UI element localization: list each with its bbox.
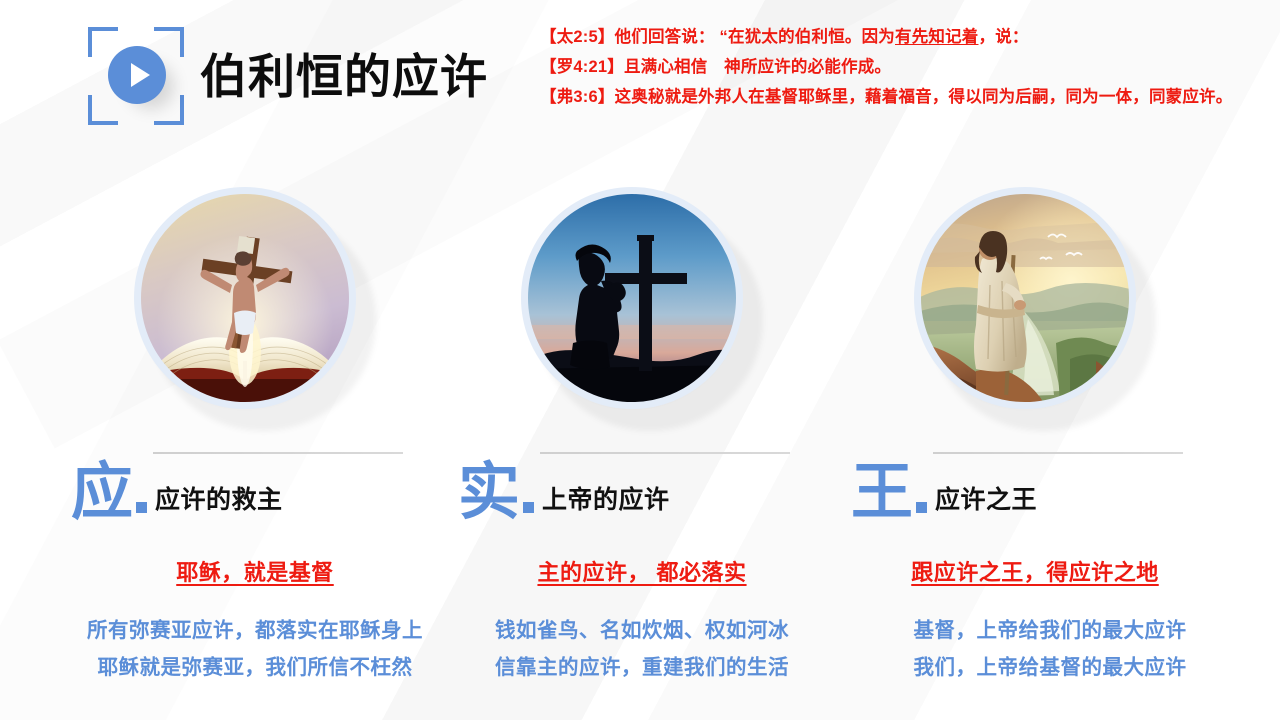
verse-text: 他们回答说： “在犹太的伯利恒。因为 (615, 28, 895, 46)
big-char: 应 (71, 464, 133, 521)
header: 伯利恒的应许 【太2:5】他们回答说： “在犹太的伯利恒。因为有先知记着，说： … (0, 0, 1280, 170)
verse-ref: 【弗3:6】 (540, 88, 615, 106)
column-red-line: 主的应许， 都必落实 (442, 555, 842, 587)
verse-ref: 【太2:5】 (540, 28, 615, 46)
blue-body-line: 钱如雀鸟、名如炊烟、权如河冰 (432, 612, 852, 649)
verse-list: 【太2:5】他们回答说： “在犹太的伯利恒。因为有先知记着，说： 【罗4:21】… (540, 22, 1240, 112)
circle-image-1 (140, 193, 350, 403)
content-columns: 应 应许的救主 耶稣，就是基督 所有弥赛亚应许，都落实在耶稣身上 耶稣就是弥赛亚… (0, 175, 1280, 720)
photo-ring (521, 187, 743, 409)
column-divider (540, 452, 790, 454)
verse-text-tail: ，说： (979, 28, 1029, 46)
column-sub-label: 应许的救主 (155, 480, 283, 521)
verse-text: 且满心相信 神所应许的必能作成。 (624, 58, 891, 76)
verse-underlined: 有先知记着 (895, 28, 979, 46)
column-headline-1: 应 应许的救主 (71, 455, 461, 521)
circle-image-2 (527, 193, 737, 403)
verse-text: 这奥秘就是外邦人在基督耶稣里，藉着福音，得以同为后嗣，同为一体，同蒙应许。 (615, 88, 1233, 106)
column-red-line: 耶稣，就是基督 (55, 555, 455, 587)
play-icon (108, 46, 166, 104)
column-blue-body-1: 所有弥赛亚应许，都落实在耶稣身上 耶稣就是弥赛亚，我们所信不枉然 (30, 612, 480, 686)
big-char: 王 (851, 464, 913, 521)
square-dot-icon (136, 502, 147, 513)
column-red-line: 跟应许之王，得应许之地 (835, 555, 1235, 587)
blue-body-line: 我们，上帝给基督的最大应许 (845, 649, 1255, 686)
column-sub-label: 应许之王 (935, 480, 1037, 521)
blue-body-line: 所有弥赛亚应许，都落实在耶稣身上 (30, 612, 480, 649)
verse-item: 【太2:5】他们回答说： “在犹太的伯利恒。因为有先知记着，说： (540, 22, 1240, 52)
column-3: 王 应许之王 跟应许之王，得应许之地 基督，上帝给我们的最大应许 我们，上帝给基… (835, 175, 1235, 720)
column-blue-body-2: 钱如雀鸟、名如炊烟、权如河冰 信靠主的应许，重建我们的生活 (432, 612, 852, 686)
photo-ring (914, 187, 1136, 409)
slide: 伯利恒的应许 【太2:5】他们回答说： “在犹太的伯利恒。因为有先知记着，说： … (0, 0, 1280, 720)
column-divider (933, 452, 1183, 454)
column-2: 实 上帝的应许 主的应许， 都必落实 钱如雀鸟、名如炊烟、权如河冰 信靠主的应许… (442, 175, 842, 720)
big-char: 实 (458, 464, 520, 521)
column-headline-3: 王 应许之王 (851, 455, 1241, 521)
circle-image-3 (920, 193, 1130, 403)
verse-item: 【罗4:21】且满心相信 神所应许的必能作成。 (540, 52, 1240, 82)
play-button-in-frame-icon (88, 27, 184, 125)
square-dot-icon (916, 502, 927, 513)
blue-body-line: 信靠主的应许，重建我们的生活 (432, 649, 852, 686)
column-divider (153, 452, 403, 454)
column-1: 应 应许的救主 耶稣，就是基督 所有弥赛亚应许，都落实在耶稣身上 耶稣就是弥赛亚… (55, 175, 455, 720)
blue-body-line: 基督，上帝给我们的最大应许 (845, 612, 1255, 649)
page-title: 伯利恒的应许 (200, 38, 488, 107)
photo-ring (134, 187, 356, 409)
column-headline-2: 实 上帝的应许 (458, 455, 848, 521)
blue-body-line: 耶稣就是弥赛亚，我们所信不枉然 (30, 649, 480, 686)
column-sub-label: 上帝的应许 (542, 480, 670, 521)
column-blue-body-3: 基督，上帝给我们的最大应许 我们，上帝给基督的最大应许 (845, 612, 1255, 686)
verse-item: 【弗3:6】这奥秘就是外邦人在基督耶稣里，藉着福音，得以同为后嗣，同为一体，同蒙… (540, 82, 1240, 112)
square-dot-icon (523, 502, 534, 513)
verse-ref: 【罗4:21】 (540, 58, 624, 76)
